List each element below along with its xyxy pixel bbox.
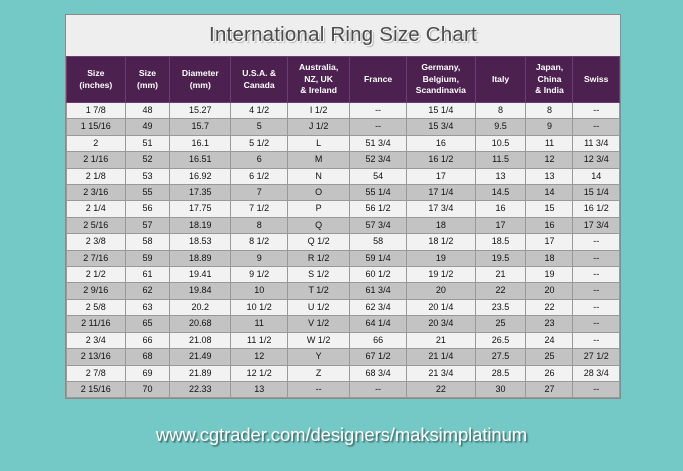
table-cell: --	[573, 316, 620, 332]
table-row: 2 5/165718.198Q57 3/418171617 3/4	[67, 217, 620, 233]
table-cell: 21 3/4	[407, 365, 476, 381]
table-cell: P	[288, 201, 350, 217]
table-cell: 51 3/4	[350, 135, 407, 151]
table-cell: 17 1/4	[407, 185, 476, 201]
table-cell: 7 1/2	[231, 201, 288, 217]
table-cell: 9 1/2	[231, 267, 288, 283]
table-row: 2 13/166821.4912Y67 1/221 1/427.52527 1/…	[67, 349, 620, 365]
table-cell: M	[288, 152, 350, 168]
table-cell: 2 15/16	[67, 381, 126, 397]
column-header-1[interactable]: Size(mm)	[125, 57, 170, 103]
table-row: 2 1/165216.516M52 3/416 1/211.51212 3/4	[67, 152, 620, 168]
table-cell: 2 5/16	[67, 217, 126, 233]
table-cell: 13	[231, 381, 288, 397]
table-cell: 52	[125, 152, 170, 168]
table-cell: Q	[288, 217, 350, 233]
table-cell: 2 1/16	[67, 152, 126, 168]
table-cell: 26.5	[475, 332, 526, 348]
table-cell: 51	[125, 135, 170, 151]
table-cell: 18.5	[475, 234, 526, 250]
column-header-line: France	[351, 74, 405, 85]
table-cell: 64 1/4	[350, 316, 407, 332]
table-cell: 24	[526, 332, 573, 348]
table-cell: Q 1/2	[288, 234, 350, 250]
table-cell: 17.35	[170, 185, 231, 201]
table-cell: 18	[526, 250, 573, 266]
column-header-0[interactable]: Size(inches)	[67, 57, 126, 103]
table-cell: 1 7/8	[67, 103, 126, 119]
table-cell: 16	[475, 201, 526, 217]
table-cell: I 1/2	[288, 103, 350, 119]
table-row: 2 3/85818.538 1/2Q 1/25818 1/218.517--	[67, 234, 620, 250]
table-cell: 9	[231, 250, 288, 266]
table-cell: 11 1/2	[231, 332, 288, 348]
table-row: 1 15/164915.75J 1/2--15 3/49.59--	[67, 119, 620, 135]
table-cell: 19	[407, 250, 476, 266]
table-cell: 15	[526, 201, 573, 217]
table-cell: 23.5	[475, 299, 526, 315]
table-cell: 11	[231, 316, 288, 332]
table-cell: 17	[475, 217, 526, 233]
table-cell: 1 15/16	[67, 119, 126, 135]
column-header-line: (mm)	[171, 80, 229, 91]
table-cell: --	[573, 250, 620, 266]
table-cell: 8	[231, 217, 288, 233]
table-cell: 10	[231, 283, 288, 299]
table-cell: 2 13/16	[67, 349, 126, 365]
table-cell: 12 1/2	[231, 365, 288, 381]
table-cell: 2 3/8	[67, 234, 126, 250]
table-row: 2 1/45617.757 1/2P56 1/217 3/4161516 1/2	[67, 201, 620, 217]
table-cell: 60 1/2	[350, 267, 407, 283]
ring-size-chart-page: International Ring Size Chart Size(inche…	[0, 0, 683, 471]
table-cell: T 1/2	[288, 283, 350, 299]
table-cell: 16 1/2	[407, 152, 476, 168]
table-row: 2 1/85316.926 1/2N5417131314	[67, 168, 620, 184]
table-cell: 15.7	[170, 119, 231, 135]
page-title: International Ring Size Chart	[66, 15, 620, 56]
column-header-3[interactable]: U.S.A. &Canada	[231, 57, 288, 103]
column-header-4[interactable]: Australia,NZ, UK& Ireland	[288, 57, 350, 103]
table-cell: 19	[526, 267, 573, 283]
table-cell: 16.51	[170, 152, 231, 168]
table-cell: 5	[231, 119, 288, 135]
table-cell: 66	[350, 332, 407, 348]
table-cell: 19.84	[170, 283, 231, 299]
table-cell: 21.08	[170, 332, 231, 348]
table-row: 25116.15 1/2L51 3/41610.51111 3/4	[67, 135, 620, 151]
table-row: 2 3/46621.0811 1/2W 1/2662126.524--	[67, 332, 620, 348]
table-cell: --	[573, 234, 620, 250]
table-cell: 12	[526, 152, 573, 168]
table-cell: 21.49	[170, 349, 231, 365]
table-cell: 20.2	[170, 299, 231, 315]
table-cell: 16	[407, 135, 476, 151]
table-cell: 66	[125, 332, 170, 348]
table-cell: 18.53	[170, 234, 231, 250]
column-header-line: Size	[68, 68, 124, 79]
table-cell: 57	[125, 217, 170, 233]
chart-card: International Ring Size Chart Size(inche…	[65, 14, 621, 399]
table-cell: 6	[231, 152, 288, 168]
column-header-8[interactable]: Japan,China& India	[526, 57, 573, 103]
table-cell: 7	[231, 185, 288, 201]
table-cell: 18	[407, 217, 476, 233]
table-row: 2 11/166520.6811V 1/264 1/420 3/42523--	[67, 316, 620, 332]
table-cell: --	[288, 381, 350, 397]
table-cell: 20 1/4	[407, 299, 476, 315]
table-cell: 2 1/8	[67, 168, 126, 184]
table-cell: 16.1	[170, 135, 231, 151]
column-header-line: Germany,	[408, 62, 474, 73]
table-cell: 20	[526, 283, 573, 299]
table-cell: 2 1/4	[67, 201, 126, 217]
table-cell: 4 1/2	[231, 103, 288, 119]
table-cell: 2 9/16	[67, 283, 126, 299]
table-cell: 22	[407, 381, 476, 397]
table-cell: 52 3/4	[350, 152, 407, 168]
column-header-6[interactable]: Germany,Belgium,Scandinavia	[407, 57, 476, 103]
table-header: Size(inches)Size(mm)Diameter(mm)U.S.A. &…	[67, 57, 620, 103]
table-cell: 2 5/8	[67, 299, 126, 315]
table-cell: --	[573, 381, 620, 397]
table-cell: 27 1/2	[573, 349, 620, 365]
table-cell: --	[573, 103, 620, 119]
ring-size-table: Size(inches)Size(mm)Diameter(mm)U.S.A. &…	[66, 56, 620, 398]
column-header-line: Japan,	[527, 62, 571, 73]
column-header-line: Canada	[232, 80, 286, 91]
table-cell: 5 1/2	[231, 135, 288, 151]
table-cell: 15 3/4	[407, 119, 476, 135]
table-cell: 59 1/4	[350, 250, 407, 266]
table-cell: 67 1/2	[350, 349, 407, 365]
table-cell: 27	[526, 381, 573, 397]
table-row: 2 3/165517.357O55 1/417 1/414.51415 1/4	[67, 185, 620, 201]
column-header-line: & Ireland	[289, 85, 348, 96]
table-cell: 17.75	[170, 201, 231, 217]
table-cell: 22	[475, 283, 526, 299]
table-cell: 56	[125, 201, 170, 217]
table-body: 1 7/84815.274 1/2I 1/2--15 1/488--1 15/1…	[67, 103, 620, 398]
table-cell: 9.5	[475, 119, 526, 135]
table-cell: 23	[526, 316, 573, 332]
table-cell: 27.5	[475, 349, 526, 365]
table-cell: --	[573, 299, 620, 315]
table-cell: 26	[526, 365, 573, 381]
column-header-line: & India	[527, 85, 571, 96]
table-cell: 19.41	[170, 267, 231, 283]
table-cell: Z	[288, 365, 350, 381]
table-cell: O	[288, 185, 350, 201]
table-cell: 20 3/4	[407, 316, 476, 332]
table-cell: 18 1/2	[407, 234, 476, 250]
table-cell: 25	[475, 316, 526, 332]
table-cell: --	[350, 119, 407, 135]
table-cell: 8	[475, 103, 526, 119]
table-cell: 17	[526, 234, 573, 250]
table-cell: 12	[231, 349, 288, 365]
table-cell: 15 1/4	[407, 103, 476, 119]
table-row: 2 1/26119.419 1/2S 1/260 1/219 1/22119--	[67, 267, 620, 283]
table-cell: L	[288, 135, 350, 151]
table-cell: 68 3/4	[350, 365, 407, 381]
table-cell: Y	[288, 349, 350, 365]
table-cell: 28 3/4	[573, 365, 620, 381]
column-header-line: (mm)	[127, 80, 169, 91]
table-header-row: Size(inches)Size(mm)Diameter(mm)U.S.A. &…	[67, 57, 620, 103]
column-header-line: Diameter	[171, 68, 229, 79]
table-cell: 30	[475, 381, 526, 397]
table-row: 2 7/86921.8912 1/2Z68 3/421 3/428.52628 …	[67, 365, 620, 381]
table-cell: 9	[526, 119, 573, 135]
column-header-line: Swiss	[574, 74, 618, 85]
table-cell: 14	[526, 185, 573, 201]
column-header-line: U.S.A. &	[232, 68, 286, 79]
table-cell: 13	[526, 168, 573, 184]
table-row: 2 9/166219.8410T 1/261 3/4202220--	[67, 283, 620, 299]
column-header-7[interactable]: Italy	[475, 57, 526, 103]
table-cell: 2 7/8	[67, 365, 126, 381]
table-cell: S 1/2	[288, 267, 350, 283]
table-cell: 49	[125, 119, 170, 135]
table-cell: 12 3/4	[573, 152, 620, 168]
table-cell: 70	[125, 381, 170, 397]
table-row: 2 7/165918.899R 1/259 1/41919.518--	[67, 250, 620, 266]
table-cell: 65	[125, 316, 170, 332]
table-cell: 11 3/4	[573, 135, 620, 151]
column-header-9[interactable]: Swiss	[573, 57, 620, 103]
column-header-5[interactable]: France	[350, 57, 407, 103]
table-row: 2 5/86320.210 1/2U 1/262 3/420 1/423.522…	[67, 299, 620, 315]
table-cell: W 1/2	[288, 332, 350, 348]
table-cell: 2 3/4	[67, 332, 126, 348]
table-cell: 61	[125, 267, 170, 283]
column-header-2[interactable]: Diameter(mm)	[170, 57, 231, 103]
table-cell: 53	[125, 168, 170, 184]
table-cell: 19.5	[475, 250, 526, 266]
table-cell: --	[573, 332, 620, 348]
table-cell: J 1/2	[288, 119, 350, 135]
table-cell: 11.5	[475, 152, 526, 168]
column-header-line: China	[527, 74, 571, 85]
table-cell: 2 3/16	[67, 185, 126, 201]
table-cell: --	[350, 103, 407, 119]
table-cell: 21	[407, 332, 476, 348]
table-cell: 21 1/4	[407, 349, 476, 365]
table-cell: 25	[526, 349, 573, 365]
column-header-line: Australia,	[289, 62, 348, 73]
table-cell: 8	[526, 103, 573, 119]
table-cell: 17 3/4	[407, 201, 476, 217]
table-cell: 59	[125, 250, 170, 266]
table-cell: 15.27	[170, 103, 231, 119]
table-cell: 58	[350, 234, 407, 250]
table-cell: 20	[407, 283, 476, 299]
table-cell: 20.68	[170, 316, 231, 332]
table-cell: 16	[526, 217, 573, 233]
column-header-line: Size	[127, 68, 169, 79]
column-header-line: (inches)	[68, 80, 124, 91]
footer-url: www.cgtrader.com/designers/maksimplatinu…	[0, 424, 683, 446]
table-cell: 16 1/2	[573, 201, 620, 217]
column-header-line: Scandinavia	[408, 85, 474, 96]
table-cell: R 1/2	[288, 250, 350, 266]
table-cell: 58	[125, 234, 170, 250]
table-cell: --	[573, 119, 620, 135]
table-cell: 17	[407, 168, 476, 184]
table-cell: 68	[125, 349, 170, 365]
table-row: 1 7/84815.274 1/2I 1/2--15 1/488--	[67, 103, 620, 119]
table-cell: N	[288, 168, 350, 184]
table-cell: U 1/2	[288, 299, 350, 315]
table-cell: 61 3/4	[350, 283, 407, 299]
table-cell: --	[350, 381, 407, 397]
table-cell: 28.5	[475, 365, 526, 381]
table-cell: 57 3/4	[350, 217, 407, 233]
table-cell: 10 1/2	[231, 299, 288, 315]
table-cell: 22	[526, 299, 573, 315]
table-cell: 21	[475, 267, 526, 283]
table-cell: 14.5	[475, 185, 526, 201]
table-cell: 62 3/4	[350, 299, 407, 315]
table-cell: 56 1/2	[350, 201, 407, 217]
column-header-line: NZ, UK	[289, 74, 348, 85]
table-cell: 2 7/16	[67, 250, 126, 266]
table-cell: --	[573, 283, 620, 299]
table-cell: 11	[526, 135, 573, 151]
table-cell: 22.33	[170, 381, 231, 397]
table-cell: 8 1/2	[231, 234, 288, 250]
table-cell: 69	[125, 365, 170, 381]
table-cell: 17 3/4	[573, 217, 620, 233]
table-cell: 18.89	[170, 250, 231, 266]
table-cell: 14	[573, 168, 620, 184]
table-cell: 2 11/16	[67, 316, 126, 332]
table-cell: 55	[125, 185, 170, 201]
table-cell: 21.89	[170, 365, 231, 381]
table-cell: 18.19	[170, 217, 231, 233]
table-cell: V 1/2	[288, 316, 350, 332]
table-cell: 2	[67, 135, 126, 151]
table-cell: --	[573, 267, 620, 283]
column-header-line: Belgium,	[408, 74, 474, 85]
table-cell: 54	[350, 168, 407, 184]
table-cell: 62	[125, 283, 170, 299]
table-cell: 13	[475, 168, 526, 184]
table-row: 2 15/167022.3313----223027--	[67, 381, 620, 397]
table-cell: 15 1/4	[573, 185, 620, 201]
table-cell: 10.5	[475, 135, 526, 151]
table-cell: 2 1/2	[67, 267, 126, 283]
table-cell: 55 1/4	[350, 185, 407, 201]
column-header-line: Italy	[477, 74, 525, 85]
table-cell: 19 1/2	[407, 267, 476, 283]
table-cell: 63	[125, 299, 170, 315]
table-cell: 48	[125, 103, 170, 119]
table-cell: 16.92	[170, 168, 231, 184]
table-cell: 6 1/2	[231, 168, 288, 184]
